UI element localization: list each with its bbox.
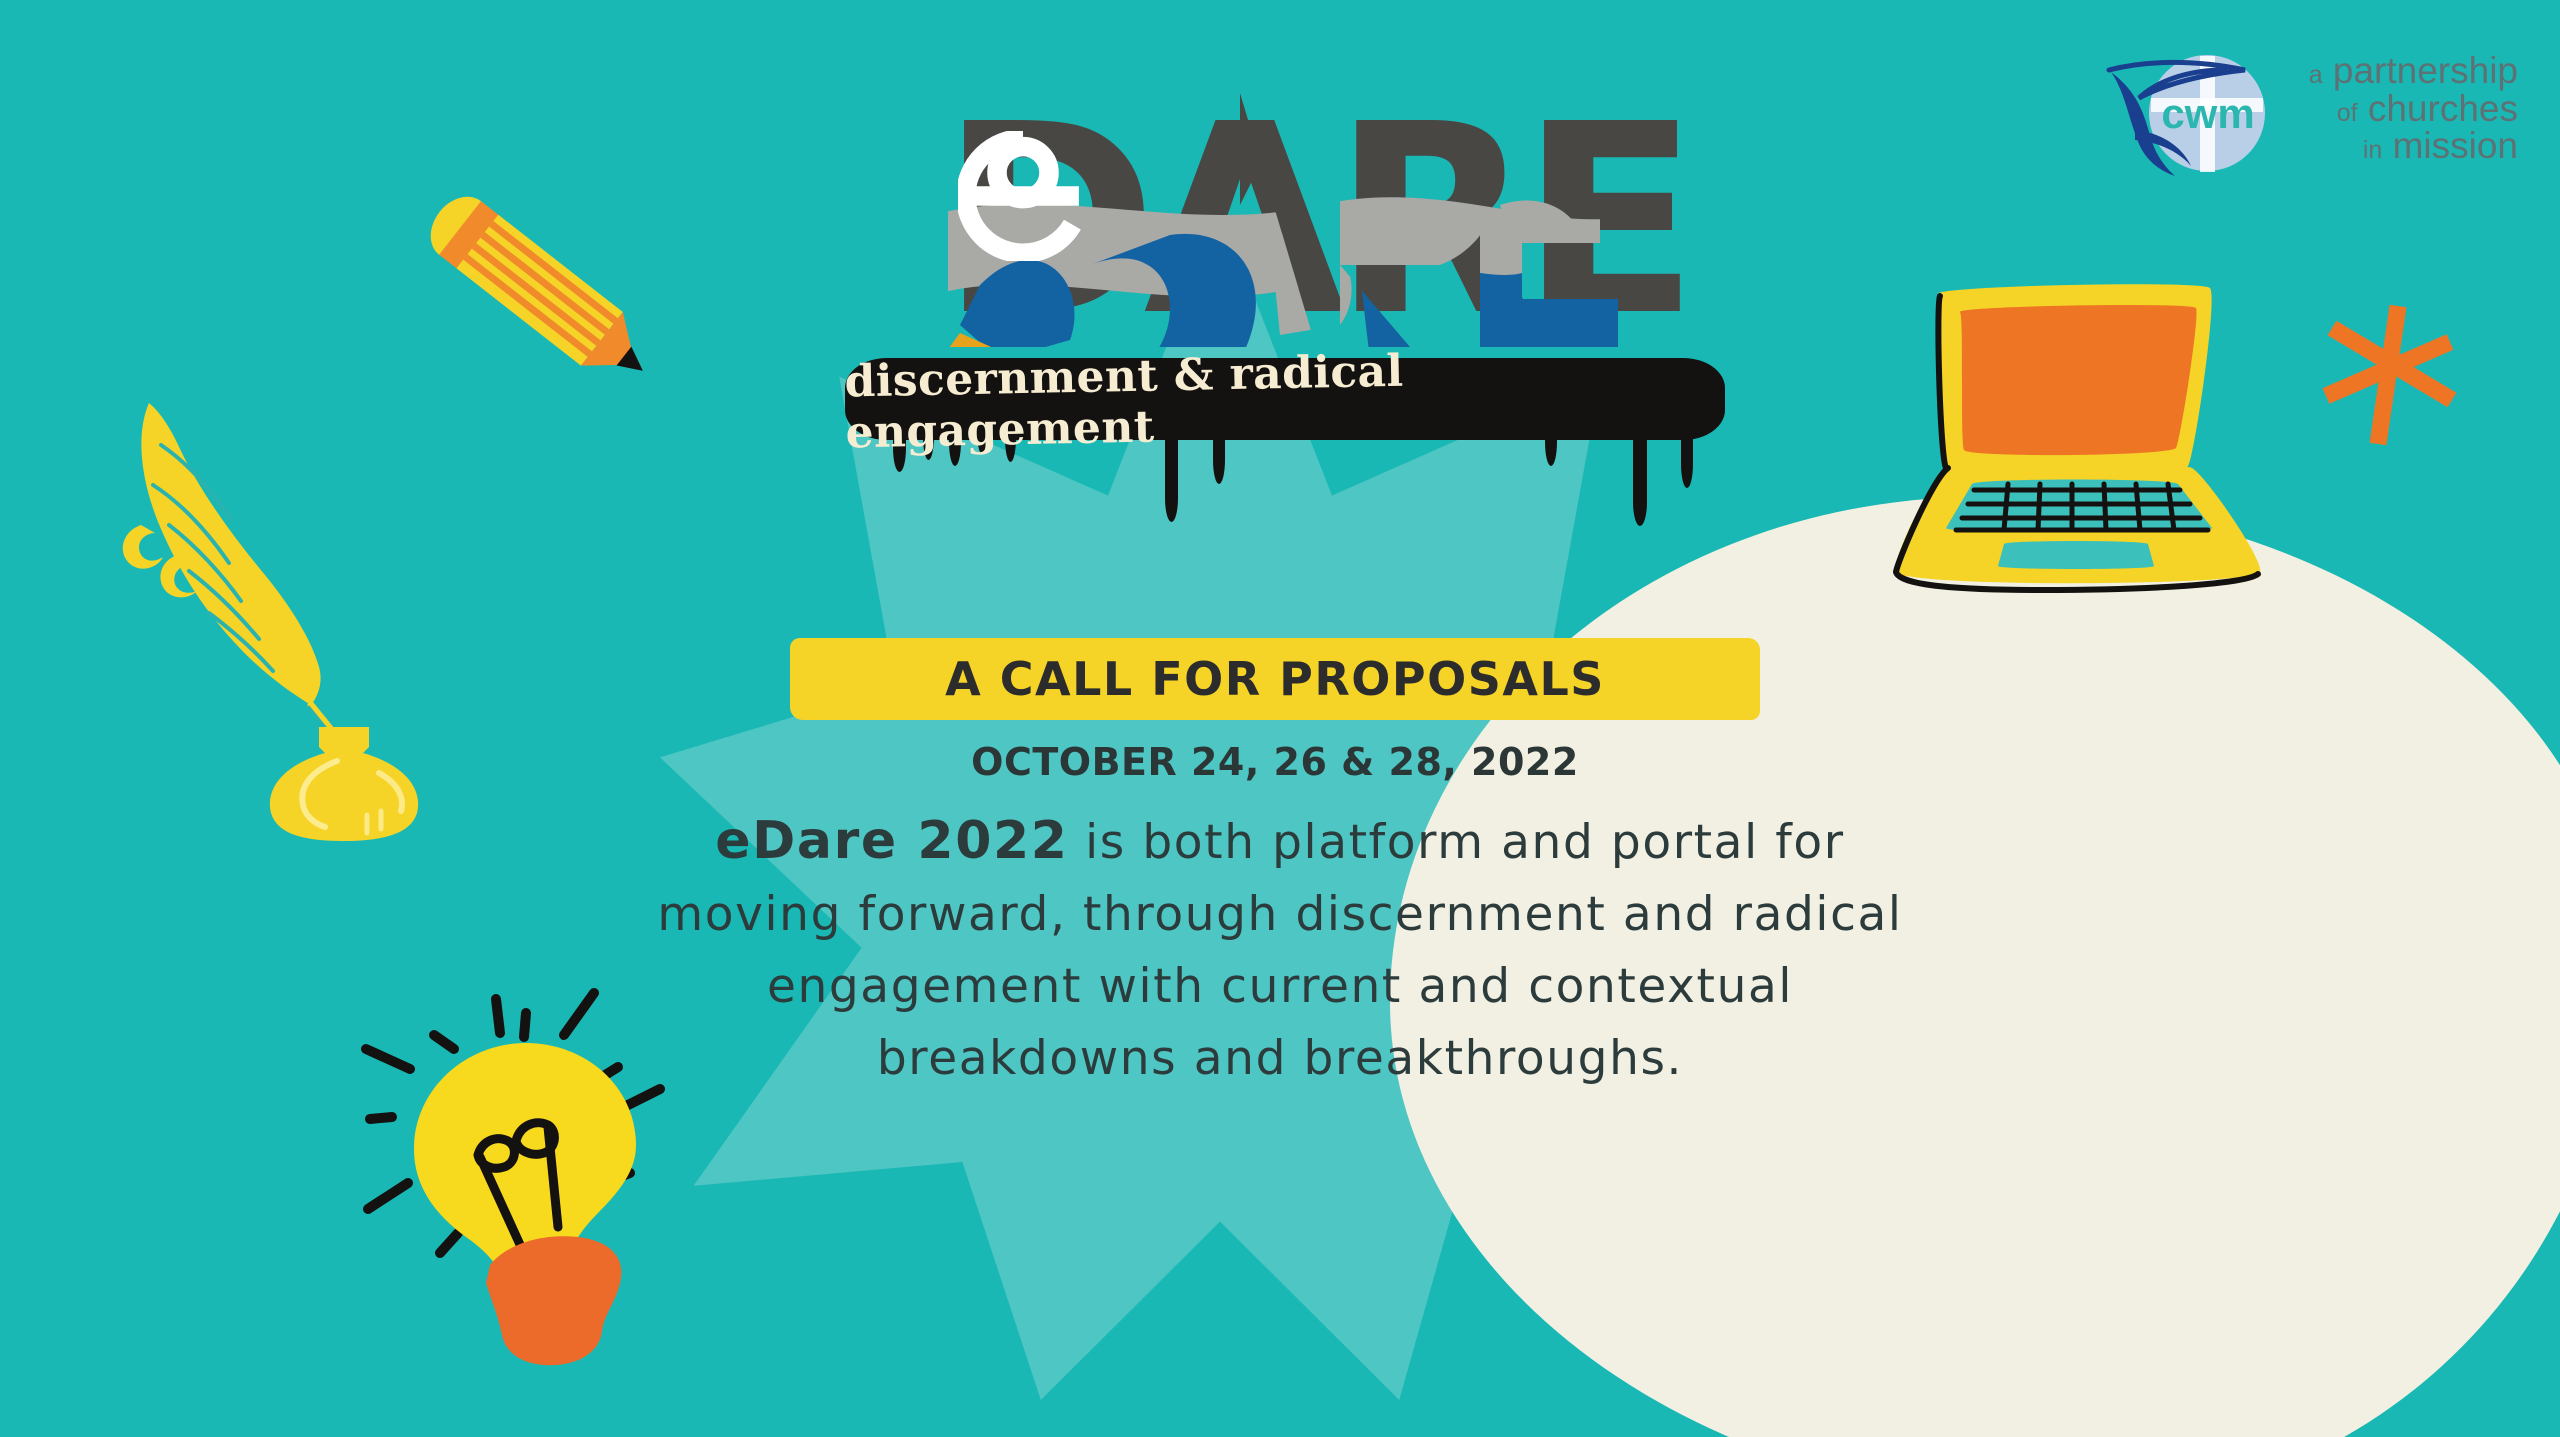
cwm-logo-mark: cwm bbox=[2095, 48, 2295, 178]
cwm-acronym: cwm bbox=[2161, 90, 2254, 137]
cwm-logo: cwm a partnership of churches in mission bbox=[2095, 48, 2518, 178]
laptop-icon bbox=[1862, 272, 2294, 614]
cwm-tagline-word-2: churches bbox=[2368, 88, 2518, 129]
poster-canvas: DARE bbox=[0, 0, 2560, 1437]
tagline-text: discernment & radical engagement bbox=[844, 350, 1725, 449]
cwm-tagline-prep-2: of bbox=[2337, 99, 2358, 127]
cwm-tagline-prep-3: in bbox=[2363, 136, 2382, 164]
body-lead: eDare 2022 bbox=[715, 811, 1068, 871]
cwm-tagline-line-3: in mission bbox=[2309, 127, 2518, 165]
cwm-tagline-line-1: a partnership bbox=[2309, 52, 2518, 90]
cwm-tagline-word-3: mission bbox=[2393, 125, 2518, 166]
asterisk-starburst-icon bbox=[2312, 292, 2480, 460]
call-for-proposals-banner[interactable]: A CALL FOR PROPOSALS bbox=[790, 638, 1760, 720]
event-dates: OCTOBER 24, 26 & 28, 2022 bbox=[790, 740, 1760, 784]
reversed-e-icon bbox=[958, 131, 1088, 261]
cwm-tagline: a partnership of churches in mission bbox=[2309, 48, 2518, 165]
cwm-shield-icon: cwm bbox=[2095, 48, 2295, 178]
body-paragraph: eDare 2022 is both platform and portal f… bbox=[640, 805, 1920, 1095]
tagline-banner: discernment & radical engagement bbox=[845, 358, 1725, 473]
quill-and-inkwell-icon bbox=[105, 375, 477, 845]
dare-wordmark: DARE bbox=[940, 85, 1630, 360]
cwm-tagline-word-1: partnership bbox=[2333, 50, 2518, 91]
cwm-tagline-line-2: of churches bbox=[2309, 90, 2518, 128]
call-for-proposals-label: A CALL FOR PROPOSALS bbox=[945, 652, 1605, 706]
cwm-tagline-article: a bbox=[2309, 61, 2323, 89]
